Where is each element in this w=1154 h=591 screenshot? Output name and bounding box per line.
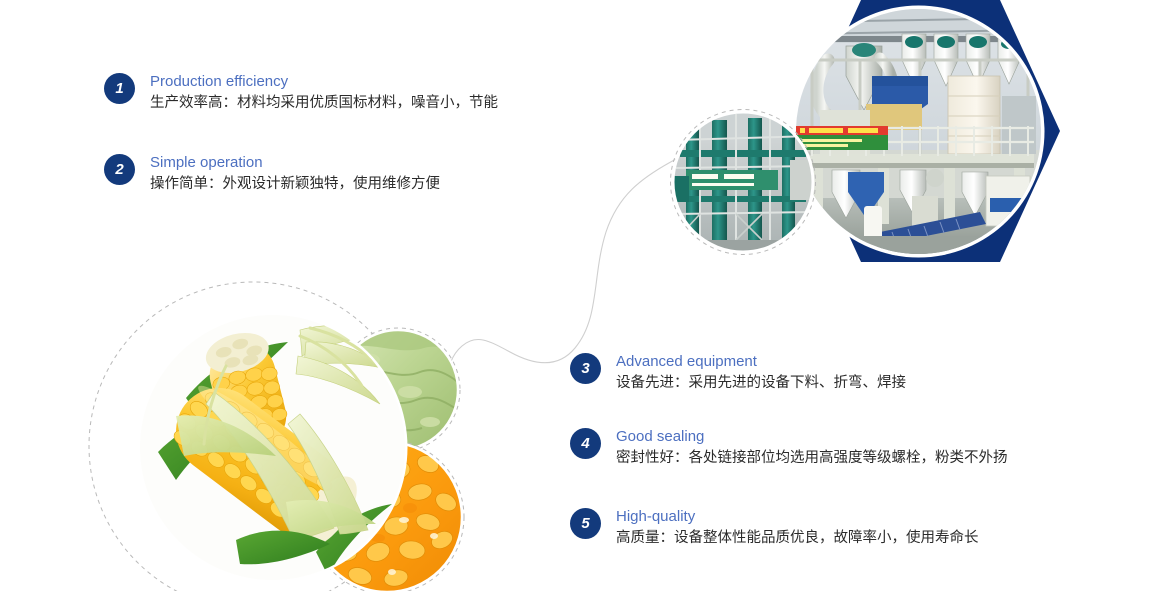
feature-number-badge-2: 2	[104, 154, 135, 185]
feature-item-1[interactable]: 1 Production efficiency 生产效率高：材料均采用优质国标材…	[104, 72, 498, 114]
feature-number-badge-4: 4	[570, 428, 601, 459]
feature-number-badge-5: 5	[570, 508, 601, 539]
corn-cluster-dashed-ring	[89, 282, 417, 591]
feature-text-3: Advanced equipment 设备先进：采用先进的设备下料、折弯、焊接	[616, 352, 906, 394]
feature-text-1: Production efficiency 生产效率高：材料均采用优质国标材料，…	[150, 72, 498, 114]
feature-desc-4: 密封性好：各处链接部位均选用高强度等级螺栓，粉类不外扬	[616, 447, 1008, 469]
feature-text-5: High-quality 高质量：设备整体性能品质优良，故障率小，使用寿命长	[616, 507, 979, 549]
feature-text-4: Good sealing 密封性好：各处链接部位均选用高强度等级螺栓，粉类不外扬	[616, 427, 1008, 469]
factory-green-machinery-photo	[671, 110, 816, 255]
feature-item-4[interactable]: 4 Good sealing 密封性好：各处链接部位均选用高强度等级螺栓，粉类不…	[570, 427, 1008, 469]
green-corn-paste-photo	[336, 328, 460, 452]
corn-cob-photo	[138, 313, 408, 583]
hexagon-accent-shape	[801, 0, 1060, 262]
infographic-page: 1 Production efficiency 生产效率高：材料均采用优质国标材…	[0, 0, 1154, 591]
factory-flour-mill-photo	[793, 6, 1045, 258]
feature-title-2: Simple operation	[150, 153, 440, 172]
corn-kernels-photo	[310, 440, 464, 591]
feature-desc-2: 操作简单：外观设计新颖独特，使用维修方便	[150, 173, 440, 195]
feature-item-2[interactable]: 2 Simple operation 操作简单：外观设计新颖独特，使用维修方便	[104, 153, 440, 195]
feature-desc-1: 生产效率高：材料均采用优质国标材料，噪音小，节能	[150, 92, 498, 114]
feature-item-5[interactable]: 5 High-quality 高质量：设备整体性能品质优良，故障率小，使用寿命长	[570, 507, 979, 549]
feature-number-badge-1: 1	[104, 73, 135, 104]
feature-title-4: Good sealing	[616, 427, 1008, 446]
feature-desc-5: 高质量：设备整体性能品质优良，故障率小，使用寿命长	[616, 527, 979, 549]
feature-desc-3: 设备先进：采用先进的设备下料、折弯、焊接	[616, 372, 906, 394]
feature-title-1: Production efficiency	[150, 72, 498, 91]
feature-text-2: Simple operation 操作简单：外观设计新颖独特，使用维修方便	[150, 153, 440, 195]
feature-number-badge-3: 3	[570, 353, 601, 384]
feature-title-3: Advanced equipment	[616, 352, 906, 371]
feature-title-5: High-quality	[616, 507, 979, 526]
feature-item-3[interactable]: 3 Advanced equipment 设备先进：采用先进的设备下料、折弯、焊…	[570, 352, 906, 394]
